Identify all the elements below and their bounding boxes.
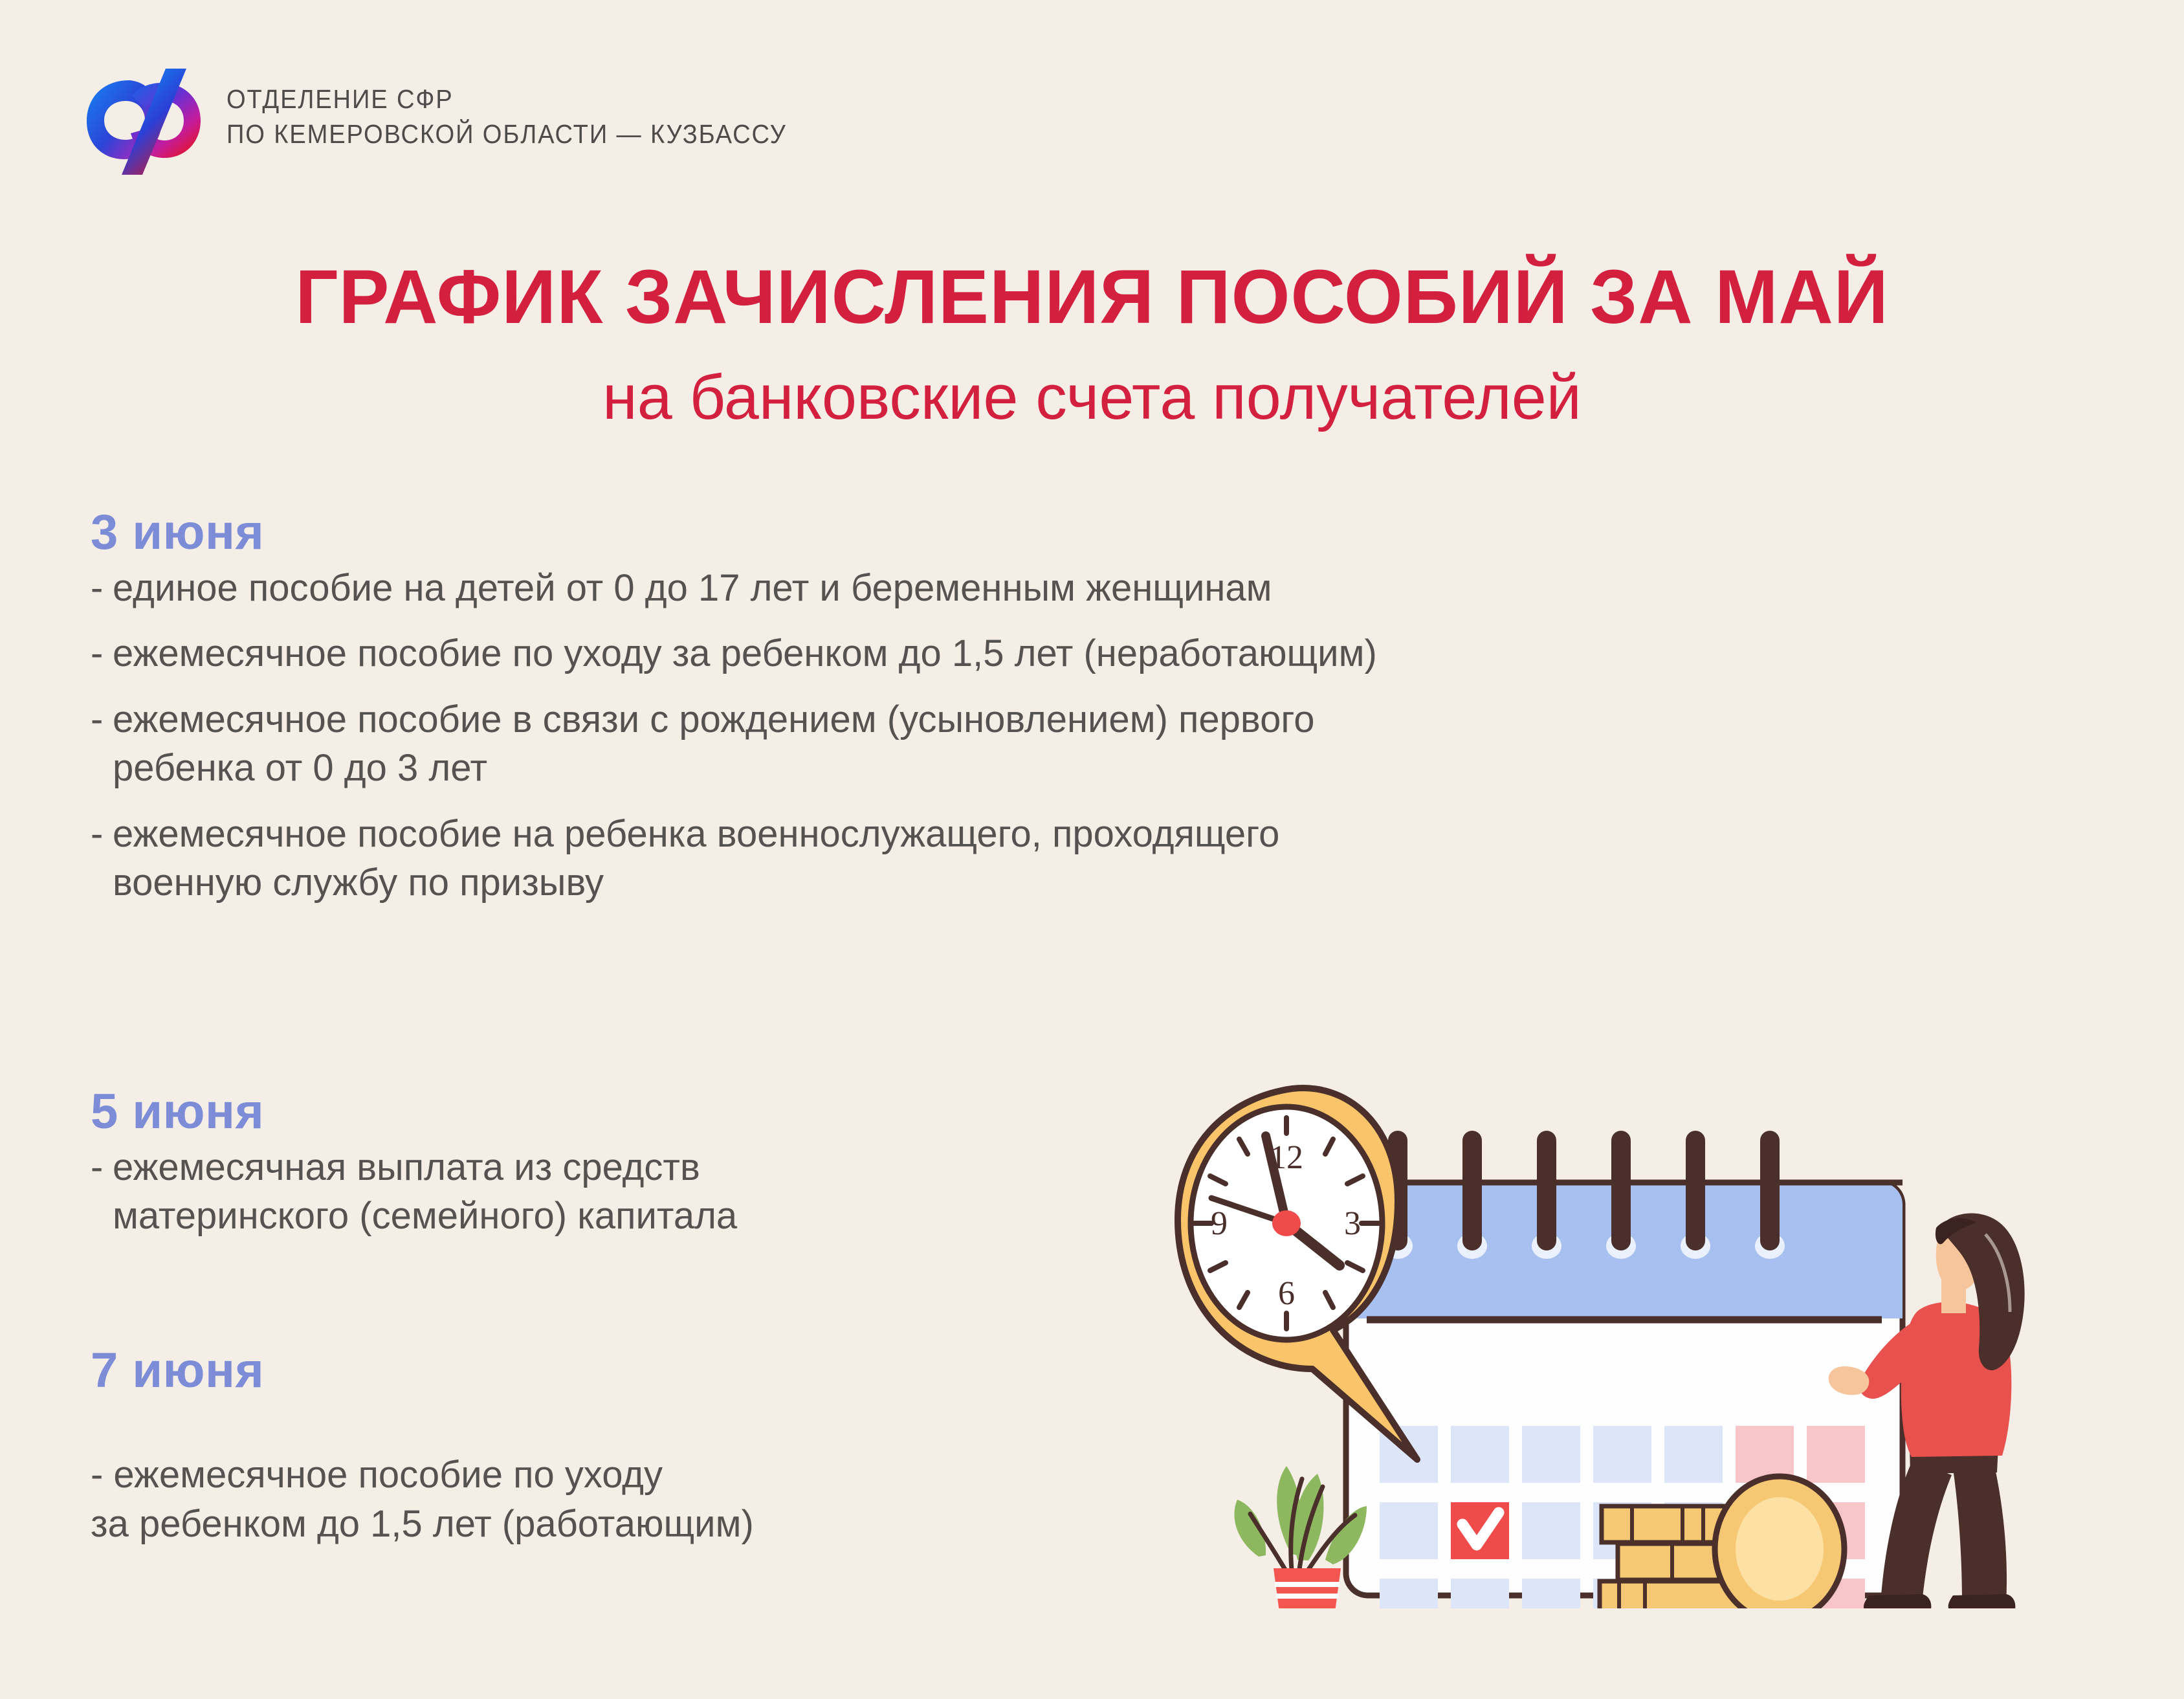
bullet-marker: -: [91, 695, 113, 744]
bullet-list-3-june: - единое пособие на детей от 0 до 17 лет…: [91, 564, 2064, 907]
date-heading-5-june: 5 июня: [91, 1087, 1061, 1137]
section-3-june: 3 июня - единое пособие на детей от 0 до…: [91, 508, 2064, 924]
bullet-marker: -: [91, 564, 113, 612]
clock-number-9: 9: [1211, 1205, 1228, 1242]
list-item-text: ежемесячное пособие на ребенка военнослу…: [113, 810, 2064, 907]
list-item-text: - ежемесячное пособие по уходу за ребенк…: [91, 1454, 754, 1544]
bullet-marker: -: [91, 1143, 113, 1192]
calendar-clock-coins-woman-illustration: 12 3 6 9: [1139, 1006, 2168, 1608]
bullet-marker: -: [91, 629, 113, 678]
sfr-logo-icon: [83, 57, 204, 176]
list-item-text: ежемесячное пособие по уходу за ребенком…: [113, 629, 2064, 678]
list-item: - ежемесячное пособие в связи с рождение…: [91, 695, 2064, 793]
list-item: - ежемесячное пособие по уходу за ребенк…: [91, 1402, 1126, 1548]
page-subtitle: на банковские счета получателей: [0, 366, 2184, 428]
page-title: ГРАФИК ЗАЧИСЛЕНИЯ ПОСОБИЙ ЗА МАЙ: [11, 259, 2173, 335]
bullet-list-5-june: - ежемесячная выплата из средств материн…: [91, 1143, 1061, 1241]
section-5-june: 5 июня - ежемесячная выплата из средств …: [91, 1087, 1061, 1258]
clock-number-3: 3: [1344, 1205, 1361, 1242]
bullet-marker: -: [91, 810, 113, 858]
clock-icon: 12 3 6 9: [1178, 1088, 1417, 1460]
org-name: ОТДЕЛЕНИЕ СФР ПО КЕМЕРОВСКОЙ ОБЛАСТИ — К…: [226, 83, 829, 150]
date-heading-7-june: 7 июня: [91, 1346, 1126, 1395]
bullet-list-7-june: - ежемесячное пособие по уходу за ребенк…: [91, 1402, 1126, 1548]
date-heading-3-june: 3 июня: [91, 508, 2064, 557]
section-7-june: 7 июня - ежемесячное пособие по уходу за…: [91, 1346, 1126, 1565]
list-item: - ежемесячное пособие по уходу за ребенк…: [91, 629, 2064, 678]
list-item: - ежемесячное пособие на ребенка военнос…: [91, 810, 2064, 907]
infographic-page: ОТДЕЛЕНИЕ СФР ПО КЕМЕРОВСКОЙ ОБЛАСТИ — К…: [0, 0, 2184, 1699]
org-line-2: ПО КЕМЕРОВСКОЙ ОБЛАСТИ — КУЗБАССУ: [226, 118, 787, 150]
clock-center-dot: [1272, 1210, 1301, 1236]
shoe-back: [1864, 1594, 1931, 1608]
plant-pot: [1274, 1568, 1341, 1608]
clock-number-6: 6: [1278, 1275, 1295, 1312]
list-item-text: единое пособие на детей от 0 до 17 лет и…: [113, 564, 2064, 612]
shoe-front: [1948, 1594, 2016, 1608]
list-item-text: ежемесячная выплата из средств материнск…: [113, 1143, 1061, 1241]
list-item: - ежемесячная выплата из средств материн…: [91, 1143, 1061, 1241]
org-line-1: ОТДЕЛЕНИЕ СФР: [226, 83, 787, 115]
list-item: - единое пособие на детей от 0 до 17 лет…: [91, 564, 2064, 612]
header: ОТДЕЛЕНИЕ СФР ПО КЕМЕРОВСКОЙ ОБЛАСТИ — К…: [83, 57, 829, 176]
list-item-text: ежемесячное пособие в связи с рождением …: [113, 695, 2064, 793]
